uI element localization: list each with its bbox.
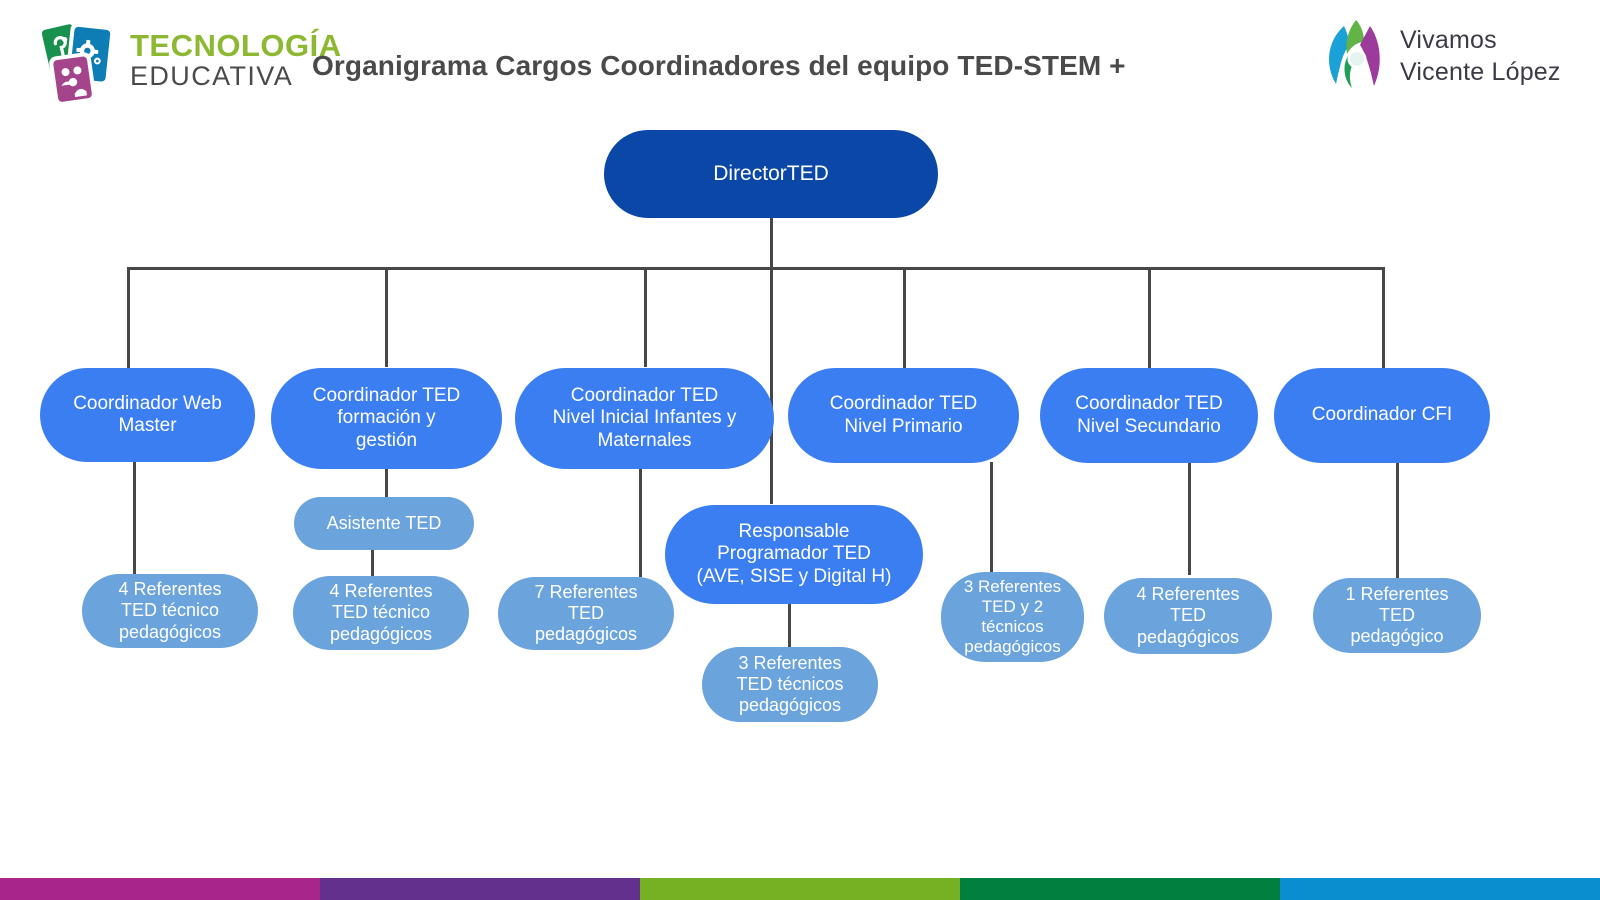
- connector-secundario-to-referentes: [1188, 462, 1191, 575]
- vvl-line-vicente-lopez: Vicente López: [1400, 56, 1561, 88]
- node-referentes-inicial[interactable]: 7 Referentes TED pedagógicos: [498, 577, 674, 650]
- organigrama-slide: TECNOLOGÍA EDUCATIVA Organigrama Cargos …: [0, 0, 1600, 900]
- vvl-line-vivamos: Vivamos: [1400, 24, 1561, 56]
- vvl-flame-icon: [1318, 18, 1396, 94]
- connector-drop-secundario: [1148, 267, 1151, 372]
- vvl-wordmark: Vivamos Vicente López: [1400, 24, 1561, 88]
- connector-asistente-to-referentes: [371, 548, 374, 578]
- connector-inicial-to-referentes: [639, 462, 642, 577]
- node-label: DirectorTED: [713, 162, 829, 187]
- node-referentes-cfi[interactable]: 1 Referentes TED pedagógico: [1313, 578, 1481, 653]
- footer-segment-magenta: [0, 878, 320, 900]
- connector-drop-cfi: [1382, 267, 1385, 372]
- connector-programador-to-referentes: [788, 604, 791, 647]
- footer-segment-purple: [320, 878, 640, 900]
- node-referentes-secundario[interactable]: 4 Referentes TED pedagógicos: [1104, 578, 1272, 654]
- connector-drop-inicial: [644, 267, 647, 367]
- node-label: 4 Referentes TED técnico pedagógicos: [329, 581, 432, 644]
- logo-line-educativa: EDUCATIVA: [130, 61, 342, 92]
- connector-drop-web-master: [127, 267, 130, 374]
- node-referentes-formacion[interactable]: 4 Referentes TED técnico pedagógicos: [293, 576, 469, 650]
- node-label: 4 Referentes TED pedagógicos: [1136, 584, 1239, 647]
- node-referentes-primario[interactable]: 3 Referentes TED y 2 técnicos pedagógico…: [941, 572, 1084, 662]
- logo-line-tecnologia: TECNOLOGÍA: [130, 30, 342, 61]
- node-label: 3 Referentes TED técnicos pedagógicos: [736, 653, 843, 716]
- footer-segment-lime: [640, 878, 960, 900]
- node-referentes-web-master[interactable]: 4 Referentes TED técnico pedagógicos: [82, 574, 258, 648]
- node-coordinador-ted-nivel-secundario[interactable]: Coordinador TED Nivel Secundario: [1040, 368, 1258, 463]
- connector-web-to-referentes: [133, 462, 136, 575]
- connector-drop-primario: [903, 267, 906, 372]
- logo-wordmark: TECNOLOGÍA EDUCATIVA: [130, 30, 342, 92]
- node-coordinador-ted-nivel-inicial[interactable]: Coordinador TED Nivel Inicial Infantes y…: [515, 368, 774, 469]
- footer-segment-blue: [1280, 878, 1600, 900]
- node-label: 3 Referentes TED y 2 técnicos pedagógico…: [964, 577, 1061, 657]
- connector-bus: [127, 267, 1384, 270]
- node-asistente-ted[interactable]: Asistente TED: [294, 497, 474, 550]
- connector-director-down: [770, 218, 773, 270]
- node-label: Coordinador TED Nivel Primario: [830, 393, 978, 437]
- connector-drop-formacion: [385, 267, 388, 367]
- node-coordinador-cfi[interactable]: Coordinador CFI: [1274, 368, 1490, 463]
- node-label: 4 Referentes TED técnico pedagógicos: [118, 579, 221, 642]
- node-coordinador-ted-nivel-primario[interactable]: Coordinador TED Nivel Primario: [788, 368, 1019, 463]
- footer-segment-green: [960, 878, 1280, 900]
- node-referentes-programador[interactable]: 3 Referentes TED técnicos pedagógicos: [702, 647, 878, 722]
- page-title: Organigrama Cargos Coordinadores del equ…: [312, 50, 1126, 82]
- node-label: 1 Referentes TED pedagógico: [1345, 584, 1448, 647]
- node-label: Coordinador TED Nivel Inicial Infantes y…: [553, 385, 737, 452]
- node-label: 7 Referentes TED pedagógicos: [534, 582, 637, 645]
- connector-director-to-programador: [770, 267, 773, 504]
- node-coordinador-web-master[interactable]: Coordinador Web Master: [40, 368, 255, 462]
- connector-primario-to-referentes: [990, 462, 993, 572]
- node-label: Responsable Programador TED (AVE, SISE y…: [697, 521, 892, 588]
- connector-cfi-to-referentes: [1396, 462, 1399, 578]
- logo-cards-icon: [22, 16, 126, 108]
- vivamos-vicente-lopez-logo: Vivamos Vicente López: [1318, 16, 1584, 96]
- node-label: Coordinador TED formación y gestión: [313, 385, 461, 452]
- tecnologia-educativa-logo: TECNOLOGÍA EDUCATIVA: [22, 16, 282, 108]
- node-label: Coordinador TED Nivel Secundario: [1075, 393, 1223, 437]
- node-responsable-programador-ted[interactable]: Responsable Programador TED (AVE, SISE y…: [665, 505, 923, 604]
- node-label: Coordinador Web Master: [73, 393, 222, 437]
- node-label: Asistente TED: [327, 513, 442, 534]
- node-label: Coordinador CFI: [1312, 404, 1452, 426]
- footer-color-bar: [0, 878, 1600, 900]
- node-director-ted[interactable]: DirectorTED: [604, 130, 938, 218]
- node-coordinador-ted-formacion-gestion[interactable]: Coordinador TED formación y gestión: [271, 368, 502, 469]
